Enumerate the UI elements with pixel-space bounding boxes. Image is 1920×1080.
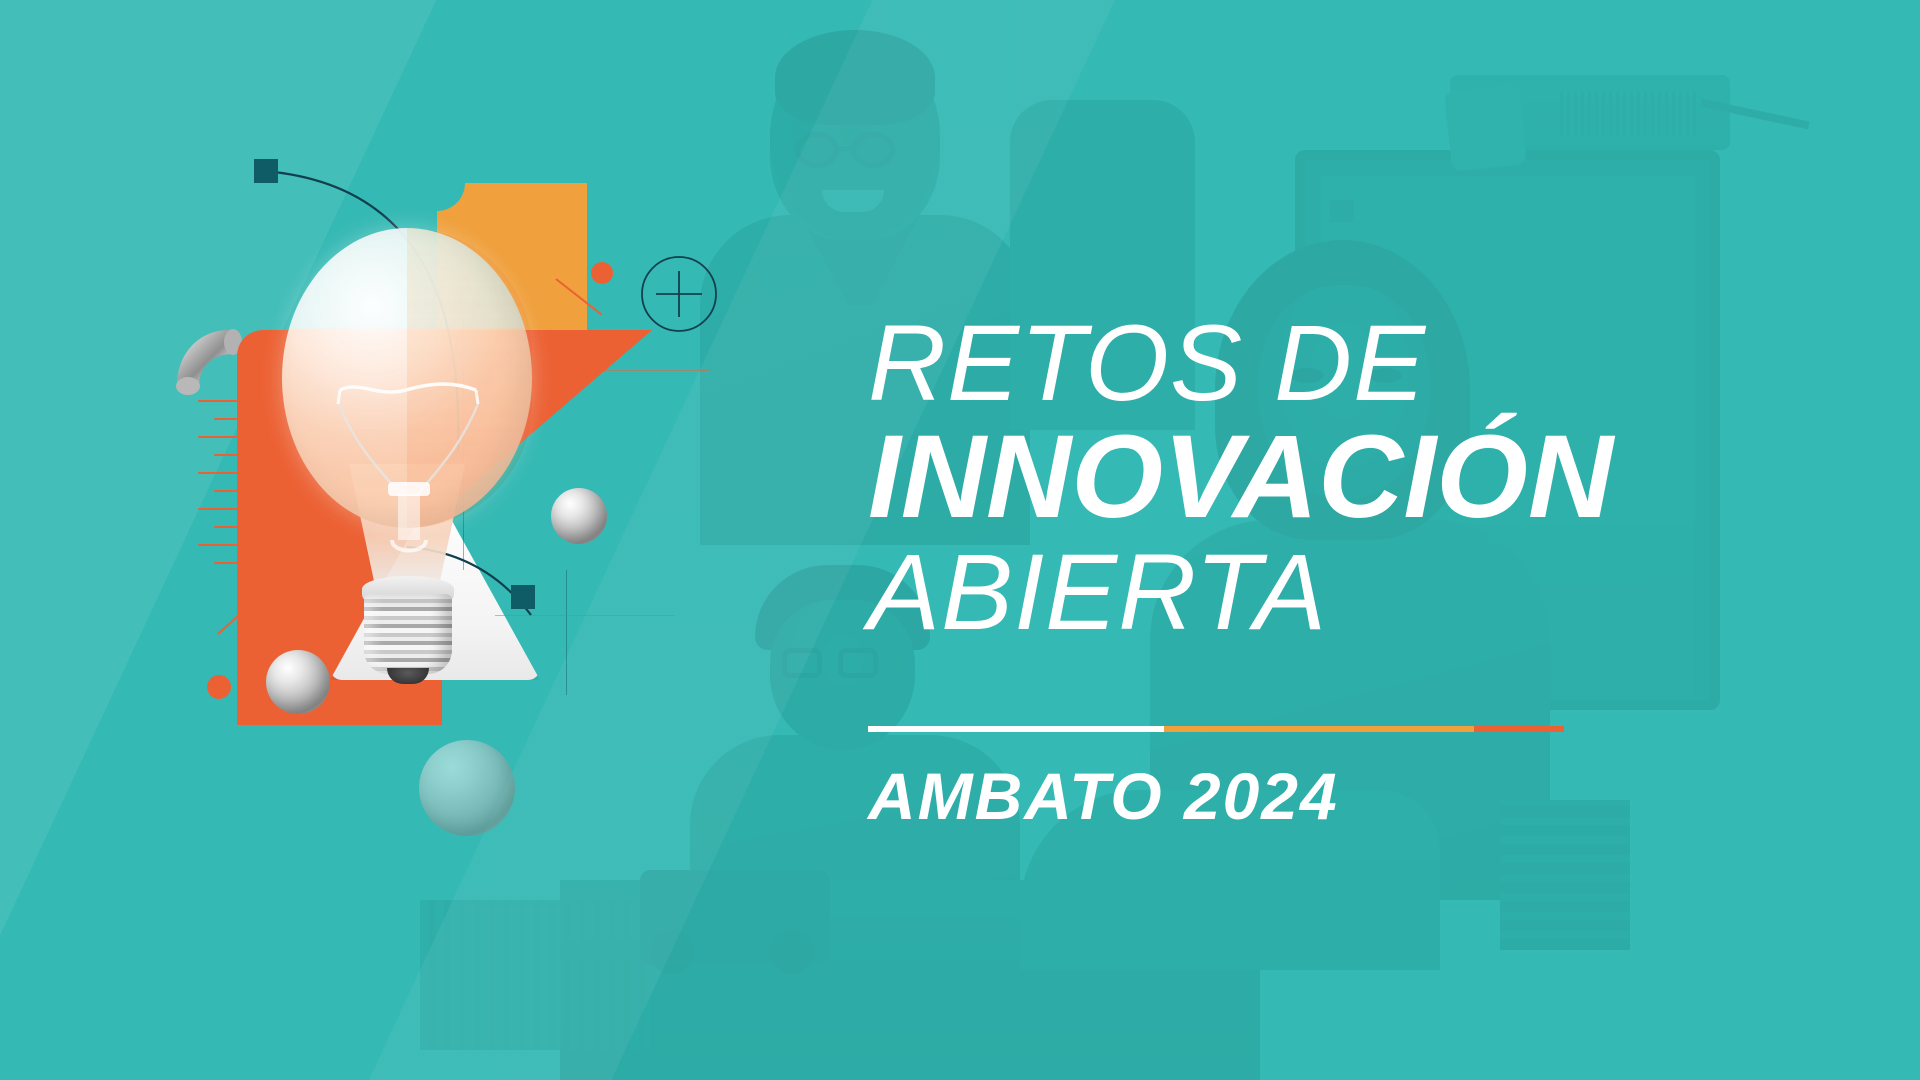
divider-segment-orange bbox=[1164, 726, 1474, 732]
photo-person-glasses-right bbox=[851, 132, 895, 168]
photo-person-glasses-left bbox=[795, 132, 839, 168]
title-line-3: ABIERTA bbox=[868, 538, 1868, 646]
photo-robot-wheel-right bbox=[770, 930, 814, 974]
divider-segment-white bbox=[868, 726, 1164, 732]
photo-person-glasses-bridge bbox=[838, 146, 854, 151]
photo-projector-lens bbox=[1444, 84, 1527, 171]
event-banner: RETOS DE INNOVACIÓN ABIERTA AMBATO 2024 bbox=[0, 0, 1920, 1080]
lightbulb-graphic bbox=[282, 228, 532, 673]
title-line-1: RETOS DE bbox=[868, 310, 1868, 416]
tricolor-divider bbox=[868, 726, 1564, 732]
lightbulb-screw-base bbox=[364, 594, 452, 674]
photo-circuit-board bbox=[420, 900, 650, 1050]
photo-robot-wheel-left bbox=[650, 930, 694, 974]
title-line-2: INNOVACIÓN bbox=[868, 418, 1868, 536]
photo-components bbox=[1500, 800, 1630, 950]
guide-line-vertical-2 bbox=[566, 570, 567, 695]
photo-projector-vent bbox=[1560, 92, 1700, 136]
photo-boy-glasses-right bbox=[838, 648, 878, 678]
metallic-sphere-1 bbox=[551, 488, 607, 544]
photo-boy-glasses-left bbox=[782, 648, 822, 678]
metallic-sphere-3 bbox=[419, 740, 515, 836]
photo-person-hair bbox=[775, 30, 935, 125]
dark-teal-square-marker-1 bbox=[254, 159, 278, 183]
headline-block: RETOS DE INNOVACIÓN ABIERTA bbox=[868, 310, 1868, 646]
orange-dot-marker-2 bbox=[207, 675, 231, 699]
lightbulb-filament bbox=[326, 378, 491, 568]
subtitle-location-year: AMBATO 2024 bbox=[868, 758, 1339, 834]
orange-dot-marker-1 bbox=[591, 262, 613, 284]
divider-segment-red bbox=[1474, 726, 1564, 732]
orange-ruler-ticks bbox=[198, 400, 240, 680]
plus-in-circle-icon bbox=[640, 255, 718, 333]
